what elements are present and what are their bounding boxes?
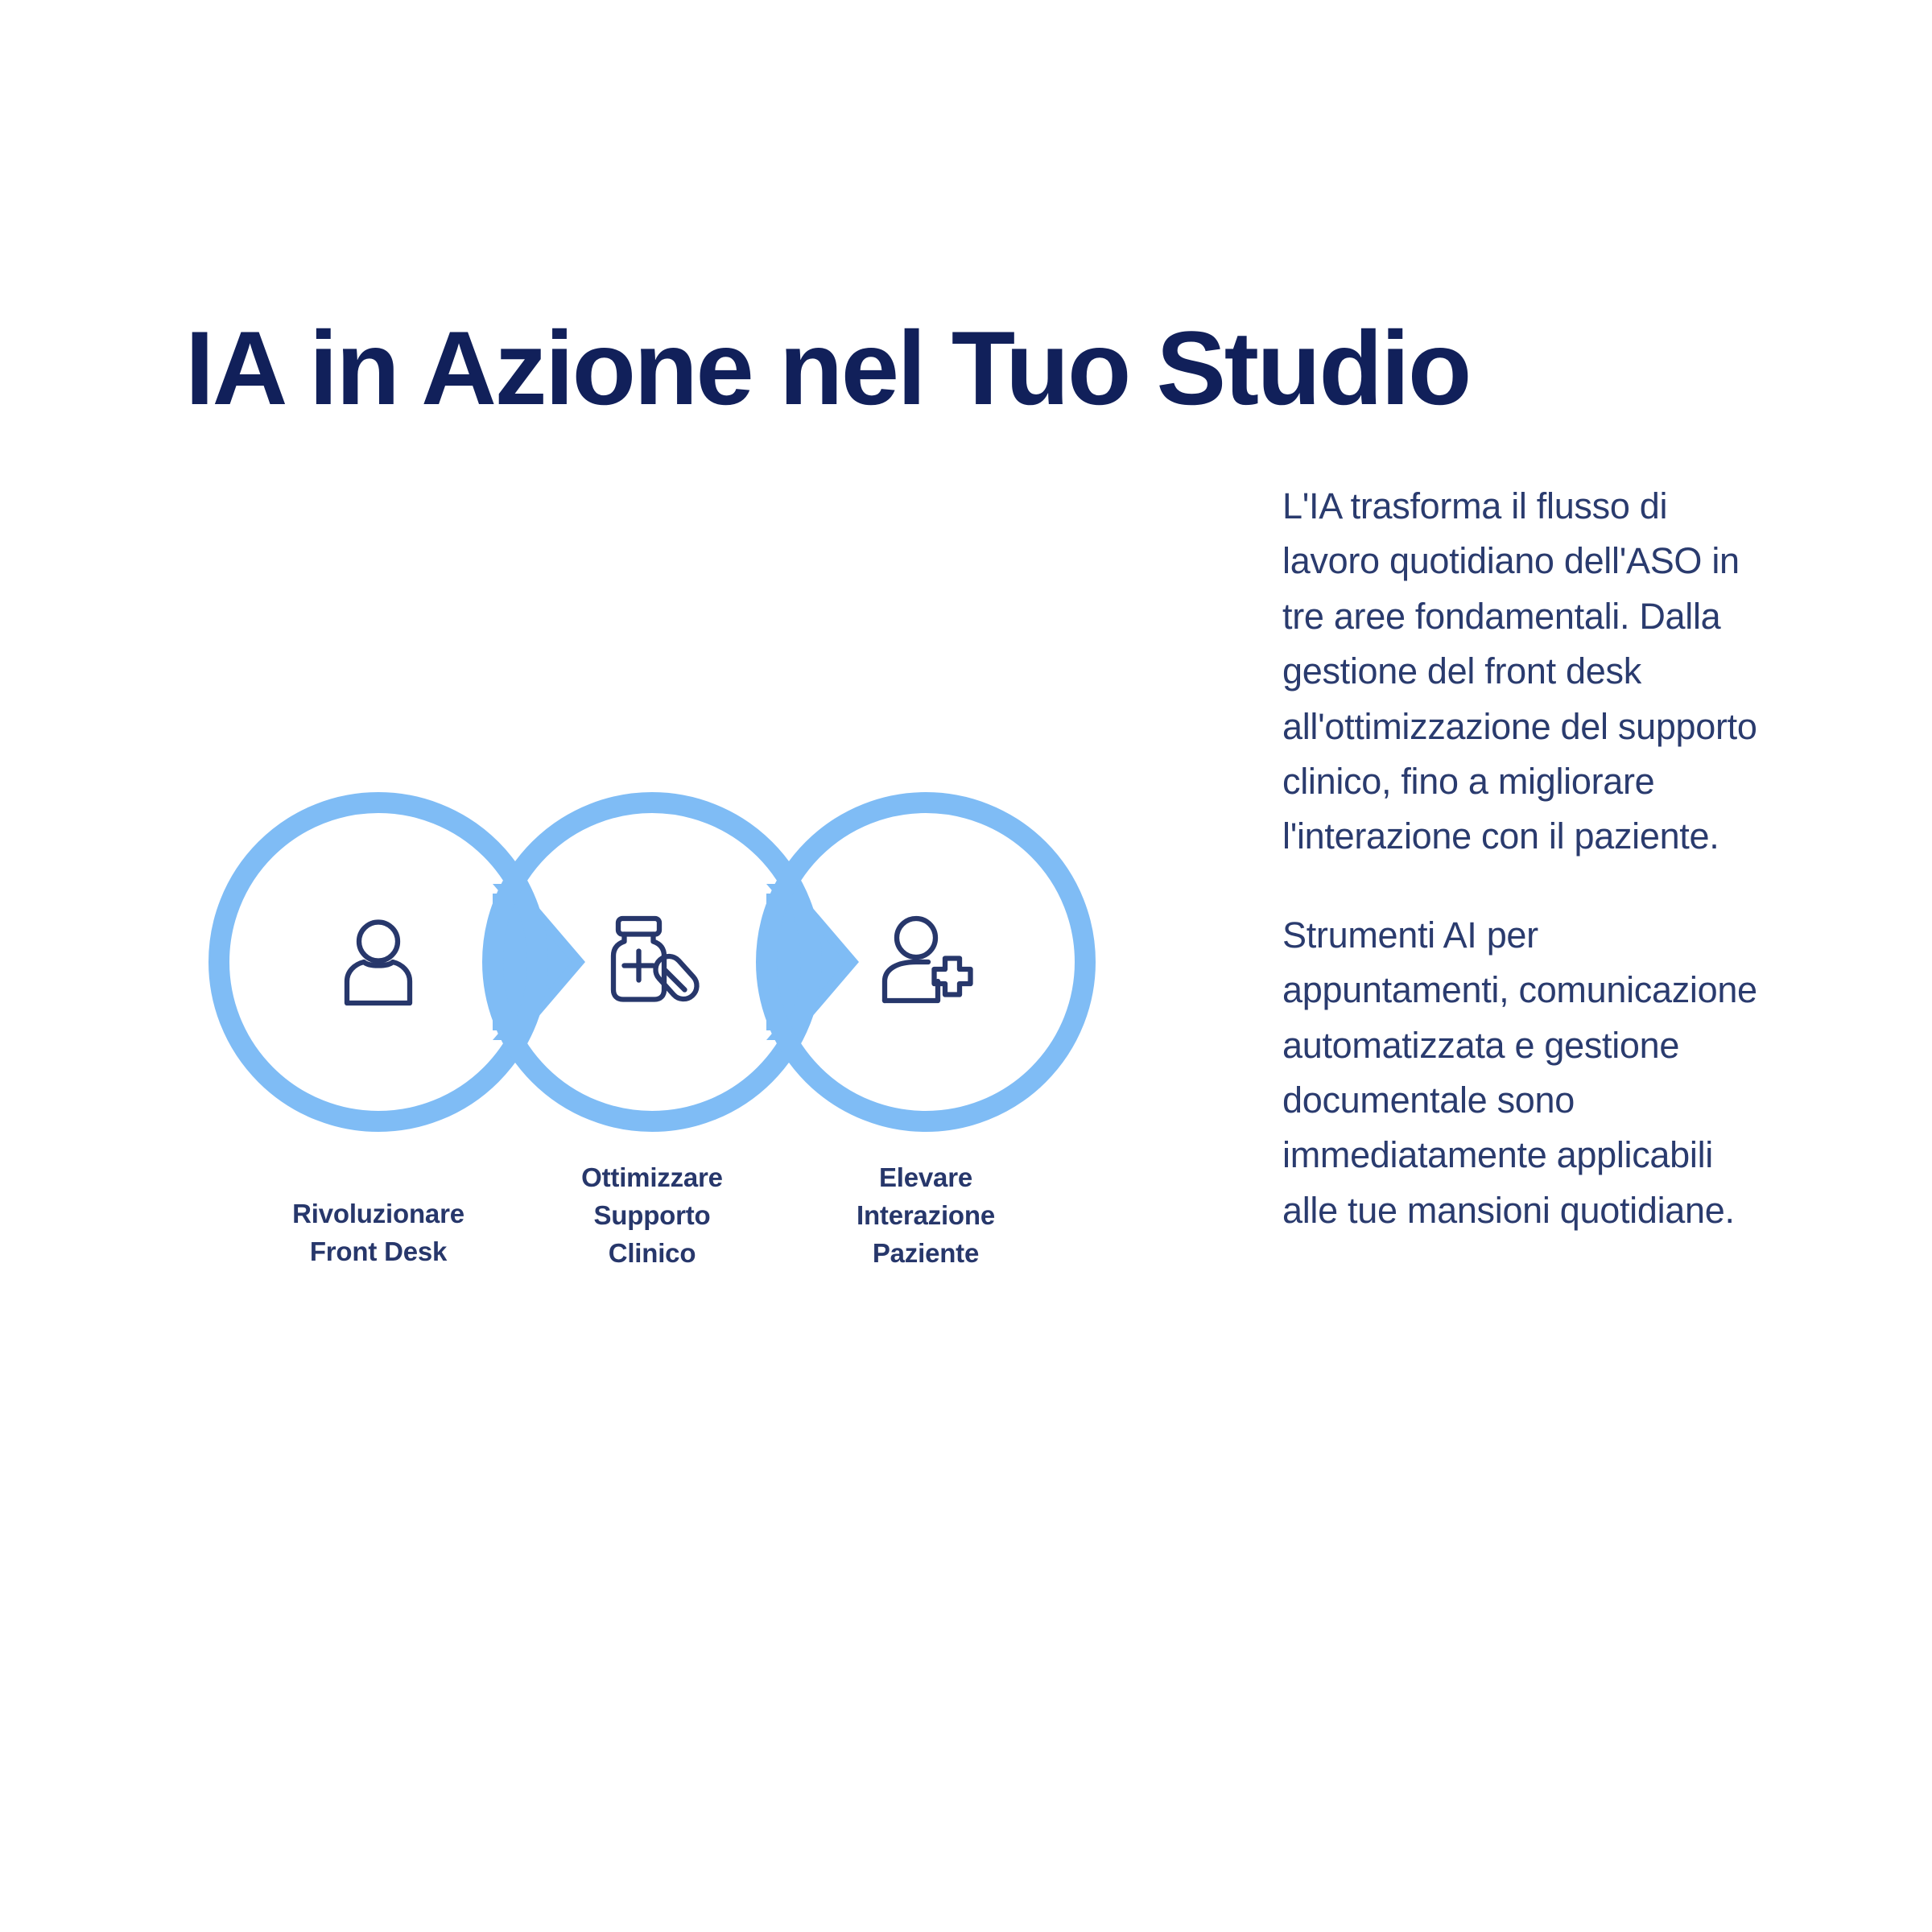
step-label-line: Ottimizzare: [519, 1159, 785, 1197]
step-label-elevare-interazione-paziente: Elevare Interazione Paziente: [793, 1159, 1059, 1273]
medicine-bottle-pills-icon: [592, 902, 712, 1022]
step-label-rivoluzionare-front-desk: Rivoluzionare Front Desk: [246, 1195, 511, 1271]
step-label-line: Interazione: [793, 1197, 1059, 1235]
person-icon: [318, 902, 439, 1022]
step-label-line: Elevare: [793, 1159, 1059, 1197]
person-plus-medical-icon: [865, 902, 986, 1022]
step-label-line: Front Desk: [246, 1233, 511, 1271]
body-paragraph-2: Strumenti AI per appuntamenti, comunicaz…: [1282, 908, 1765, 1238]
page-title: IA in Azione nel Tuo Studio: [185, 312, 1715, 424]
step-3-icon-wrapper: [865, 902, 986, 1022]
step-label-line: Paziente: [793, 1235, 1059, 1273]
step-label-line: Supporto: [519, 1197, 785, 1235]
step-2-icon-wrapper: [592, 902, 712, 1022]
slide-canvas: IA in Azione nel Tuo Studio: [0, 0, 1932, 1932]
step-label-line: Clinico: [519, 1235, 785, 1273]
step-label-line: Rivoluzionare: [246, 1195, 511, 1233]
body-paragraph-1: L'IA trasforma il flusso di lavoro quoti…: [1282, 479, 1765, 865]
step-1-icon-wrapper: [318, 902, 439, 1022]
body-copy: L'IA trasforma il flusso di lavoro quoti…: [1282, 479, 1765, 1238]
process-diagram: Rivoluzionare Front Desk Ottimizzare Sup…: [193, 773, 1143, 1352]
step-labels: Rivoluzionare Front Desk Ottimizzare Sup…: [193, 1151, 1143, 1352]
step-label-ottimizzare-supporto-clinico: Ottimizzare Supporto Clinico: [519, 1159, 785, 1273]
